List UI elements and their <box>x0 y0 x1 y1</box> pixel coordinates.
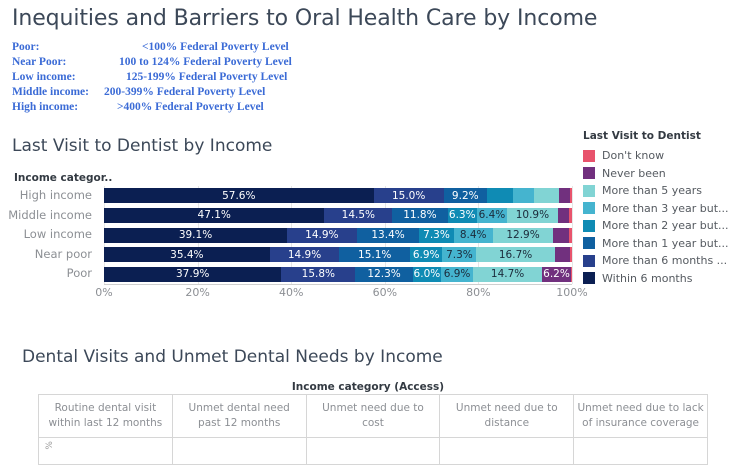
x-axis-tick-label: 0% <box>95 286 112 299</box>
legend-swatch-icon <box>583 185 595 197</box>
legend-item[interactable]: More than 1 year but... <box>583 235 733 253</box>
category-label: Low income <box>24 225 92 245</box>
bar-segment[interactable]: 14.7% <box>473 267 542 282</box>
bar-segment[interactable] <box>569 228 572 243</box>
bar-segment[interactable] <box>569 208 572 223</box>
definition-value: 200-399% Federal Poverty Level <box>104 85 265 100</box>
legend-swatch-icon <box>583 167 595 179</box>
bar-segment[interactable]: 11.8% <box>392 208 447 223</box>
legend-item-label: Within 6 months <box>602 272 692 285</box>
x-axis-tick-label: 20% <box>185 286 209 299</box>
legend-item-label: Never been <box>602 167 666 180</box>
definition-value: <100% Federal Poverty Level <box>104 40 289 55</box>
table-column-header: Unmet need due to cost <box>306 395 440 438</box>
category-label: Middle income <box>8 206 92 226</box>
legend-item-label: Don't know <box>602 149 664 162</box>
stacked-bar-chart[interactable]: 57.6%15.0%9.2%47.1%14.5%11.8%6.3%6.4%10.… <box>104 186 572 284</box>
bar-segment[interactable]: 12.9% <box>493 228 553 243</box>
definition-label: Low income: <box>12 70 104 85</box>
dashboard-page: Inequities and Barriers to Oral Health C… <box>0 0 736 454</box>
legend-title: Last Visit to Dentist <box>583 130 733 142</box>
bar-row[interactable]: 39.1%14.9%13.4%7.3%8.4%12.9% <box>104 228 572 243</box>
legend-item-label: More than 5 years <box>602 184 702 197</box>
category-label: High income <box>20 186 92 206</box>
legend-item-label: More than 1 year but... <box>602 237 729 250</box>
bar-segment[interactable] <box>555 247 570 262</box>
bar-segment[interactable]: 6.9% <box>441 267 473 282</box>
bar-segment[interactable] <box>553 228 569 243</box>
bar-row[interactable]: 57.6%15.0%9.2% <box>104 188 572 203</box>
table-header-row: Routine dental visit within last 12 mont… <box>39 395 708 438</box>
x-axis-tick-label: 100% <box>556 286 587 299</box>
definition-label: Poor: <box>12 40 104 55</box>
bar-segment[interactable] <box>570 188 572 203</box>
bar-segment[interactable] <box>559 188 569 203</box>
legend-swatch-icon <box>583 220 595 232</box>
percent-axis-glyph: % <box>43 441 58 450</box>
bar-segment[interactable]: 15.0% <box>374 188 444 203</box>
table-column-header: Unmet need due to lack of insurance cove… <box>574 395 708 438</box>
definition-value: 125-199% Federal Poverty Level <box>104 70 287 85</box>
chart1-title: Last Visit to Dentist by Income <box>12 136 272 156</box>
bar-segment[interactable] <box>513 188 534 203</box>
legend-swatch-icon <box>583 150 595 162</box>
x-axis-tick-label: 60% <box>373 286 397 299</box>
bar-segment[interactable]: 8.4% <box>454 228 493 243</box>
legend-swatch-icon <box>583 255 595 267</box>
bar-segment[interactable]: 14.5% <box>324 208 392 223</box>
chart2-title: Dental Visits and Unmet Dental Needs by … <box>22 347 443 367</box>
table-cell <box>574 438 708 465</box>
definition-row: Middle income: 200-399% Federal Poverty … <box>12 85 432 100</box>
bar-segment[interactable] <box>570 247 572 262</box>
bar-segment[interactable]: 14.9% <box>287 228 357 243</box>
table-cell <box>172 438 306 465</box>
table-column-header: Routine dental visit within last 12 mont… <box>39 395 173 438</box>
legend-item[interactable]: Within 6 months <box>583 270 733 288</box>
chart-gridline <box>572 186 573 284</box>
bar-segment[interactable]: 7.3% <box>419 228 453 243</box>
bar-row[interactable]: 37.9%15.8%12.3%6.0%6.9%14.7%6.2% <box>104 267 572 282</box>
bar-segment[interactable] <box>558 208 569 223</box>
x-axis-tick-label: 40% <box>279 286 303 299</box>
bar-segment[interactable]: 6.0% <box>413 267 441 282</box>
legend-item-label: More than 6 months ... <box>602 254 727 267</box>
dental-needs-table: Routine dental visit within last 12 mont… <box>38 394 708 465</box>
legend-item[interactable]: Never been <box>583 165 733 183</box>
bar-segment[interactable]: 13.4% <box>357 228 420 243</box>
legend-swatch-icon <box>583 202 595 214</box>
table-row: % <box>39 438 708 465</box>
table-cell: % <box>39 438 173 465</box>
legend-swatch-icon <box>583 272 595 284</box>
table-column-header: Unmet need due to distance <box>440 395 574 438</box>
bar-segment[interactable]: 12.3% <box>355 267 413 282</box>
bar-segment[interactable]: 37.9% <box>104 267 281 282</box>
legend-swatch-icon <box>583 237 595 249</box>
legend-item[interactable]: More than 3 year but... <box>583 200 733 218</box>
definition-label: Middle income: <box>12 85 104 100</box>
bar-segment[interactable] <box>534 188 560 203</box>
table-group-header: Income category (Access) <box>0 381 736 393</box>
bar-segment[interactable]: 9.2% <box>444 188 487 203</box>
bar-segment[interactable]: 15.1% <box>339 247 410 262</box>
bar-segment[interactable]: 35.4% <box>104 247 270 262</box>
table-cell <box>440 438 574 465</box>
bar-row[interactable]: 47.1%14.5%11.8%6.3%6.4%10.9% <box>104 208 572 223</box>
bar-segment[interactable]: 7.3% <box>442 247 476 262</box>
y-axis-caption: Income categor.. <box>14 172 112 184</box>
legend-item-label: More than 3 year but... <box>602 202 729 215</box>
definition-row: High income: >400% Federal Poverty Level <box>12 100 432 115</box>
bar-segment[interactable]: 10.9% <box>507 208 558 223</box>
legend-item-label: More than 2 year but... <box>602 219 729 232</box>
bar-row[interactable]: 35.4%14.9%15.1%6.9%7.3%16.7% <box>104 247 572 262</box>
legend-item[interactable]: More than 5 years <box>583 182 733 200</box>
bar-segment[interactable]: 14.9% <box>270 247 340 262</box>
bar-segment[interactable] <box>487 188 513 203</box>
definition-label: Near Poor: <box>12 55 104 70</box>
chart-legend: Last Visit to Dentist Don't knowNever be… <box>583 130 733 287</box>
definition-value: 100 to 124% Federal Poverty Level <box>104 55 292 70</box>
income-definitions: Poor: <100% Federal Poverty Level Near P… <box>12 40 432 115</box>
definition-row: Low income: 125-199% Federal Poverty Lev… <box>12 70 432 85</box>
bar-segment[interactable]: 6.4% <box>477 208 507 223</box>
definition-row: Poor: <100% Federal Poverty Level <box>12 40 432 55</box>
category-label: Poor <box>67 264 92 284</box>
category-axis-labels: High incomeMiddle incomeLow incomeNear p… <box>0 186 98 284</box>
bar-segment[interactable]: 15.8% <box>281 267 355 282</box>
table-cell <box>306 438 440 465</box>
definition-row: Near Poor: 100 to 124% Federal Poverty L… <box>12 55 432 70</box>
definition-label: High income: <box>12 100 104 115</box>
legend-item[interactable]: Don't know <box>583 147 733 165</box>
bar-segment[interactable]: 47.1% <box>104 208 324 223</box>
x-axis-tick-label: 80% <box>466 286 490 299</box>
definition-value: >400% Federal Poverty Level <box>104 100 264 115</box>
bar-segment[interactable]: 6.9% <box>410 247 442 262</box>
bar-segment[interactable]: 16.7% <box>476 247 554 262</box>
legend-item[interactable]: More than 2 year but... <box>583 217 733 235</box>
bar-segment[interactable]: 39.1% <box>104 228 287 243</box>
bar-segment[interactable]: 6.2% <box>542 267 571 282</box>
bar-segment[interactable] <box>571 267 572 282</box>
page-title: Inequities and Barriers to Oral Health C… <box>12 6 597 31</box>
bar-segment[interactable]: 6.3% <box>448 208 477 223</box>
category-label: Near poor <box>35 245 92 265</box>
bar-segment[interactable]: 57.6% <box>104 188 374 203</box>
legend-item[interactable]: More than 6 months ... <box>583 252 733 270</box>
x-axis-line <box>104 284 572 285</box>
table-column-header: Unmet dental need past 12 months <box>172 395 306 438</box>
